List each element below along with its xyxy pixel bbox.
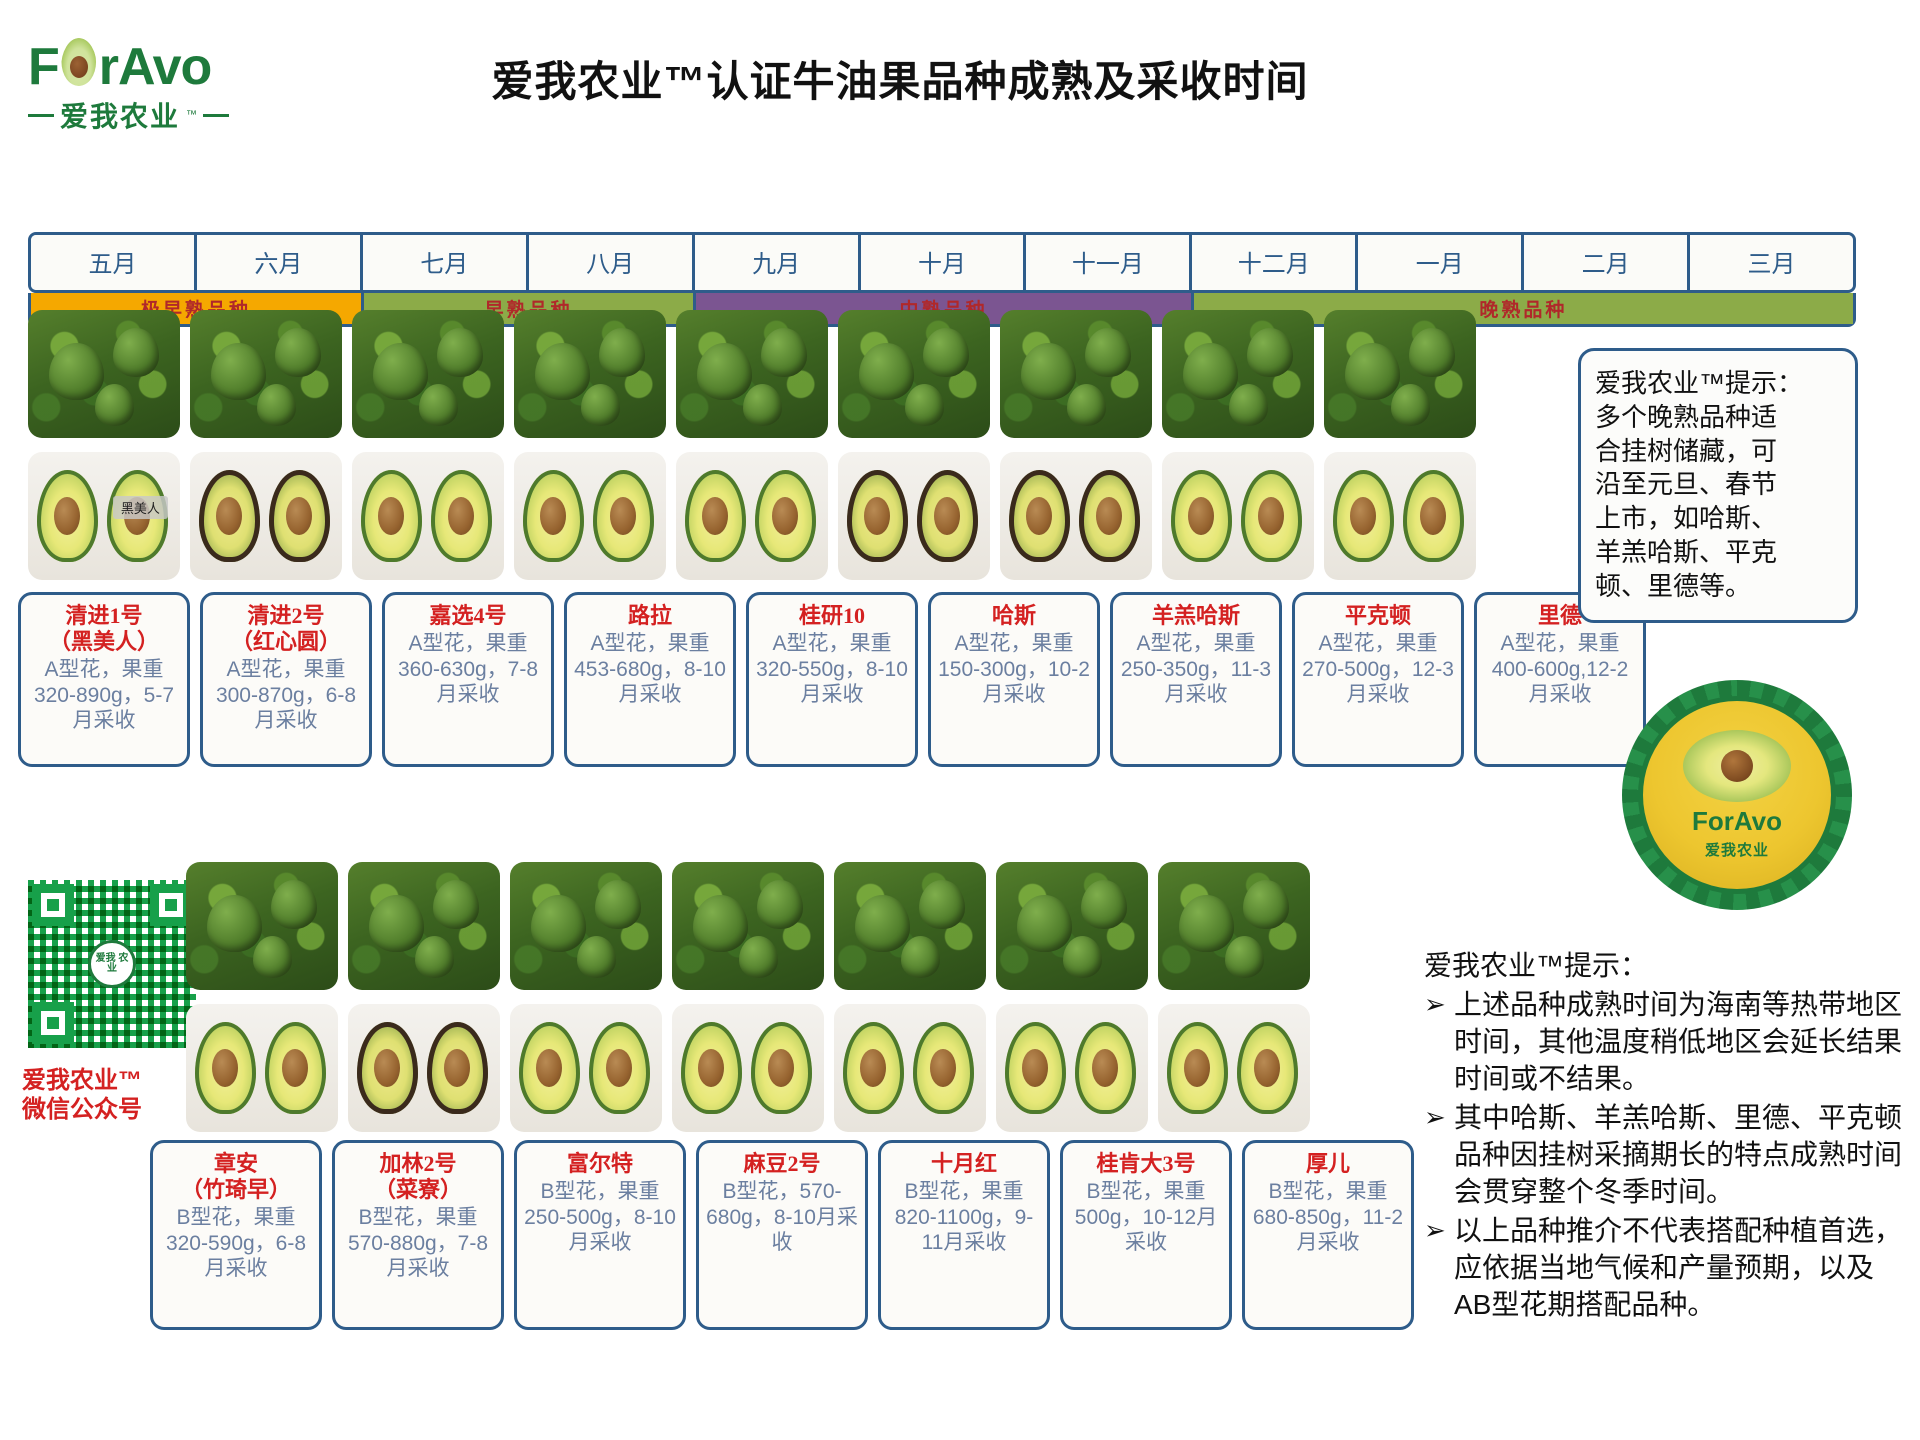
tip-items: ➢上述品种成熟时间为海南等热带地区时间，其他温度稍低地区会延长结果时间或不结果。… xyxy=(1424,987,1904,1324)
variety-description: B型花，570-680g，8-10月采收 xyxy=(705,1179,859,1256)
avocado-tree-photo xyxy=(1000,310,1152,438)
month-cell: 十二月 xyxy=(1192,235,1358,290)
variety-description: B型花，果重680-850g，11-2月采收 xyxy=(1251,1179,1405,1256)
variety-card[interactable]: 厚儿B型花，果重680-850g，11-2月采收 xyxy=(1242,1140,1414,1330)
row2-tree-photos xyxy=(186,862,1310,990)
avocado-fruit-photo xyxy=(186,1004,338,1132)
month-cell: 八月 xyxy=(529,235,695,290)
logo-rule-left xyxy=(28,114,54,117)
row1-tree-photos xyxy=(28,310,1476,438)
avocado-tree-photo xyxy=(352,310,504,438)
variety-card[interactable]: 富尔特B型花，果重250-500g，8-10月采收 xyxy=(514,1140,686,1330)
variety-description: A型花，果重360-630g，7-8月采收 xyxy=(391,631,545,708)
avocado-tree-photo xyxy=(838,310,990,438)
logo-subtitle: 爱我农业 ™ xyxy=(28,95,278,135)
avocado-tree-photo xyxy=(1158,862,1310,990)
avocado-fruit-photo xyxy=(510,1004,662,1132)
variety-card[interactable]: 桂肯大3号B型花，果重500g，10-12月采收 xyxy=(1060,1140,1232,1330)
tip-text: 上述品种成熟时间为海南等热带地区时间，其他温度稍低地区会延长结果时间或不结果。 xyxy=(1454,987,1904,1098)
qr-caption: 爱我农业™ 微信公众号 xyxy=(22,1066,142,1125)
badge-brand-cn: 爱我农业 xyxy=(1705,839,1769,860)
variety-name: 平克顿 xyxy=(1301,603,1455,629)
avocado-tree-photo xyxy=(28,310,180,438)
variety-name: 桂研10 xyxy=(755,603,909,629)
variety-name: 十月红 xyxy=(887,1151,1041,1177)
logo-chinese-name: 爱我农业 xyxy=(60,95,180,135)
logo-rule-right xyxy=(203,114,229,117)
variety-name: 富尔特 xyxy=(523,1151,677,1177)
avocado-fruit-photo xyxy=(996,1004,1148,1132)
avocado-tree-photo xyxy=(834,862,986,990)
variety-card[interactable]: 哈斯A型花，果重150-300g，10-2月采收 xyxy=(928,592,1100,767)
row2-fruit-photos xyxy=(186,1004,1310,1132)
variety-description: B型花，果重320-590g，6-8月采收 xyxy=(159,1205,313,1282)
variety-description: B型花，果重500g，10-12月采收 xyxy=(1069,1179,1223,1256)
variety-name: 章安 （竹琦早） xyxy=(159,1151,313,1203)
avocado-o-icon xyxy=(59,36,99,88)
month-cell: 十月 xyxy=(861,235,1027,290)
variety-description: A型花，果重320-550g，8-10月采收 xyxy=(755,631,909,708)
tip-item: ➢以上品种推介不代表搭配种植首选，应依据当地气候和产量预期，以及AB型花期搭配品… xyxy=(1424,1213,1904,1324)
tip-box-top: 爱我农业™提示： 多个晚熟品种适 合挂树储藏，可 沿至元旦、春节 上市，如哈斯、… xyxy=(1578,348,1858,623)
avocado-tree-photo xyxy=(190,310,342,438)
month-cell: 九月 xyxy=(695,235,861,290)
variety-name: 哈斯 xyxy=(937,603,1091,629)
avocado-fruit-photo xyxy=(352,452,504,580)
arrow-bullet-icon: ➢ xyxy=(1424,1213,1446,1324)
avocado-fruit-photo xyxy=(514,452,666,580)
variety-name: 加林2号 （菜寮） xyxy=(341,1151,495,1203)
variety-card[interactable]: 加林2号 （菜寮）B型花，果重570-880g，7-8月采收 xyxy=(332,1140,504,1330)
avocado-fruit-photo xyxy=(834,1004,986,1132)
wechat-qr-code[interactable]: 爱我 农业 xyxy=(28,880,196,1048)
variety-card[interactable]: 桂研10A型花，果重320-550g，8-10月采收 xyxy=(746,592,918,767)
row1-fruit-photos: 黑美人 xyxy=(28,452,1476,580)
variety-description: A型花，果重453-680g，8-10月采收 xyxy=(573,631,727,708)
avocado-fruit-photo xyxy=(1324,452,1476,580)
variety-description: B型花，果重250-500g，8-10月采收 xyxy=(523,1179,677,1256)
variety-name: 羊羔哈斯 xyxy=(1119,603,1273,629)
variety-name: 厚儿 xyxy=(1251,1151,1405,1177)
foravo-logo: F rAvo 爱我农业 ™ xyxy=(28,36,278,136)
foravo-seal-badge: ForAvo 爱我农业 xyxy=(1622,680,1852,910)
month-cell: 十一月 xyxy=(1026,235,1192,290)
variety-card[interactable]: 路拉A型花，果重453-680g，8-10月采收 xyxy=(564,592,736,767)
avocado-tree-photo xyxy=(996,862,1148,990)
badge-inner: ForAvo 爱我农业 xyxy=(1638,696,1836,894)
tip-text: 其中哈斯、羊羔哈斯、里德、平克顿品种因挂树采摘期长的特点成熟时间会贯穿整个冬季时… xyxy=(1454,1100,1904,1211)
variety-description: B型花，果重570-880g，7-8月采收 xyxy=(341,1205,495,1282)
variety-description: A型花，果重250-350g，11-3月采收 xyxy=(1119,631,1273,708)
infographic-page: F rAvo 爱我农业 ™ 爱我农业™认证牛油果品种成熟及采收时间 五月六月七月… xyxy=(0,0,1920,1440)
variety-name: 嘉选4号 xyxy=(391,603,545,629)
avocado-tree-photo xyxy=(348,862,500,990)
month-cell: 一月 xyxy=(1358,235,1524,290)
qr-center-logo: 爱我 农业 xyxy=(88,940,136,988)
month-cell: 二月 xyxy=(1524,235,1690,290)
variety-card[interactable]: 章安 （竹琦早）B型花，果重320-590g，6-8月采收 xyxy=(150,1140,322,1330)
photo-caption: 黑美人 xyxy=(113,496,168,519)
page-title: 爱我农业™认证牛油果品种成熟及采收时间 xyxy=(400,48,1400,109)
row2-variety-cards: 章安 （竹琦早）B型花，果重320-590g，6-8月采收加林2号 （菜寮）B型… xyxy=(150,1140,1414,1330)
avocado-tree-photo xyxy=(510,862,662,990)
avocado-tree-photo xyxy=(1162,310,1314,438)
row1-variety-cards: 清进1号 （黑美人）A型花，果重320-890g，5-7月采收清进2号 （红心圆… xyxy=(18,592,1646,767)
variety-card[interactable]: 嘉选4号A型花，果重360-630g，7-8月采收 xyxy=(382,592,554,767)
logo-letters-rest: rAvo xyxy=(99,38,212,96)
months-row: 五月六月七月八月九月十月十一月十二月一月二月三月 xyxy=(28,232,1856,293)
month-cell: 七月 xyxy=(363,235,529,290)
variety-description: A型花，果重300-870g，6-8月采收 xyxy=(209,657,363,734)
tip-item: ➢其中哈斯、羊羔哈斯、里德、平克顿品种因挂树采摘期长的特点成熟时间会贯穿整个冬季… xyxy=(1424,1100,1904,1211)
tip-list-heading: 爱我农业™提示： xyxy=(1424,948,1904,985)
badge-avocado-icon xyxy=(1683,730,1791,802)
avocado-fruit-photo xyxy=(1000,452,1152,580)
avocado-fruit-photo xyxy=(1158,1004,1310,1132)
avocado-fruit-photo xyxy=(838,452,990,580)
variety-card[interactable]: 平克顿A型花，果重270-500g，12-3月采收 xyxy=(1292,592,1464,767)
avocado-fruit-photo xyxy=(190,452,342,580)
month-cell: 六月 xyxy=(197,235,363,290)
badge-brand-name: ForAvo xyxy=(1692,806,1782,837)
logo-wordmark: F rAvo xyxy=(28,36,278,93)
avocado-tree-photo xyxy=(1324,310,1476,438)
avocado-tree-photo xyxy=(672,862,824,990)
avocado-fruit-photo xyxy=(676,452,828,580)
arrow-bullet-icon: ➢ xyxy=(1424,1100,1446,1211)
variety-name: 清进2号 （红心圆） xyxy=(209,603,363,655)
avocado-tree-photo xyxy=(514,310,666,438)
variety-description: A型花，果重320-890g，5-7月采收 xyxy=(27,657,181,734)
qr-eye-bottom-left xyxy=(32,1002,74,1044)
variety-name: 桂肯大3号 xyxy=(1069,1151,1223,1177)
avocado-fruit-photo: 黑美人 xyxy=(28,452,180,580)
avocado-fruit-photo xyxy=(348,1004,500,1132)
month-cell: 五月 xyxy=(31,235,197,290)
variety-card[interactable]: 麻豆2号B型花，570-680g，8-10月采收 xyxy=(696,1140,868,1330)
tip-text: 以上品种推介不代表搭配种植首选，应依据当地气候和产量预期，以及AB型花期搭配品种… xyxy=(1454,1213,1904,1324)
variety-card[interactable]: 羊羔哈斯A型花，果重250-350g，11-3月采收 xyxy=(1110,592,1282,767)
avocado-tree-photo xyxy=(676,310,828,438)
variety-card[interactable]: 清进1号 （黑美人）A型花，果重320-890g，5-7月采收 xyxy=(18,592,190,767)
variety-description: A型花，果重270-500g，12-3月采收 xyxy=(1301,631,1455,708)
tip-list-bottom: 爱我农业™提示： ➢上述品种成熟时间为海南等热带地区时间，其他温度稍低地区会延长… xyxy=(1424,948,1904,1324)
variety-description: A型花，果重150-300g，10-2月采收 xyxy=(937,631,1091,708)
variety-name: 路拉 xyxy=(573,603,727,629)
logo-trademark-icon: ™ xyxy=(186,109,197,121)
avocado-fruit-photo xyxy=(672,1004,824,1132)
variety-description: B型花，果重820-1100g，9-11月采收 xyxy=(887,1179,1041,1256)
variety-name: 清进1号 （黑美人） xyxy=(27,603,181,655)
qr-eye-top-left xyxy=(32,884,74,926)
logo-letter-f: F xyxy=(28,38,59,96)
tip-item: ➢上述品种成熟时间为海南等热带地区时间，其他温度稍低地区会延长结果时间或不结果。 xyxy=(1424,987,1904,1098)
variety-name: 麻豆2号 xyxy=(705,1151,859,1177)
variety-description: A型花，果重400-600g,12-2月采收 xyxy=(1483,631,1637,708)
variety-card[interactable]: 清进2号 （红心圆）A型花，果重300-870g，6-8月采收 xyxy=(200,592,372,767)
month-cell: 三月 xyxy=(1690,235,1853,290)
arrow-bullet-icon: ➢ xyxy=(1424,987,1446,1098)
variety-card[interactable]: 十月红B型花，果重820-1100g，9-11月采收 xyxy=(878,1140,1050,1330)
avocado-fruit-photo xyxy=(1162,452,1314,580)
avocado-tree-photo xyxy=(186,862,338,990)
